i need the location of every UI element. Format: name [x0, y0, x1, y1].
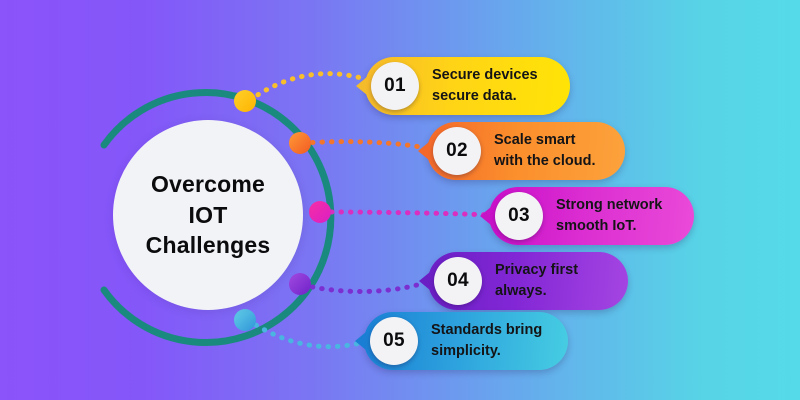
item-text-2: Scale smart with the cloud. — [481, 130, 612, 171]
connector-line-3 — [322, 212, 492, 215]
item-pill-4[interactable]: 04 Privacy first always. — [428, 252, 628, 310]
pill-tail-1 — [356, 77, 367, 95]
connector-dot-5 — [234, 309, 256, 331]
connector-dot-2 — [289, 132, 311, 154]
center-hub: Overcome IOT Challenges — [113, 120, 303, 310]
connector-dot-3 — [309, 201, 331, 223]
pill-tail-4 — [419, 272, 430, 290]
item-text-5: Standards bring simplicity. — [418, 320, 558, 361]
item-number-1: 01 — [371, 62, 419, 110]
connector-line-4 — [303, 281, 430, 292]
item-pill-3[interactable]: 03 Strong network smooth IoT. — [489, 187, 694, 245]
center-title-line-3: Challenges — [146, 230, 271, 261]
item-text-1: Secure devices secure data. — [419, 65, 554, 106]
item-number-3: 03 — [495, 192, 543, 240]
center-title-line-1: Overcome — [151, 169, 265, 200]
pill-tail-2 — [418, 142, 429, 160]
item-pill-2[interactable]: 02 Scale smart with the cloud. — [427, 122, 625, 180]
connector-dot-4 — [289, 273, 311, 295]
center-title-line-2: IOT — [189, 200, 228, 231]
item-number-4: 04 — [434, 257, 482, 305]
item-text-4: Privacy first always. — [482, 260, 594, 301]
item-text-3: Strong network smooth IoT. — [543, 195, 678, 236]
item-pill-5[interactable]: 05 Standards bring simplicity. — [364, 312, 568, 370]
item-number-5: 05 — [370, 317, 418, 365]
connector-dot-1 — [234, 90, 256, 112]
connector-line-2 — [303, 142, 430, 149]
item-number-2: 02 — [433, 127, 481, 175]
infographic-canvas: Overcome IOT Challenges 01 Secure device… — [0, 0, 800, 400]
item-pill-1[interactable]: 01 Secure devices secure data. — [365, 57, 570, 115]
pill-tail-5 — [355, 332, 366, 350]
pill-tail-3 — [480, 207, 491, 225]
connector-line-1 — [250, 74, 368, 100]
